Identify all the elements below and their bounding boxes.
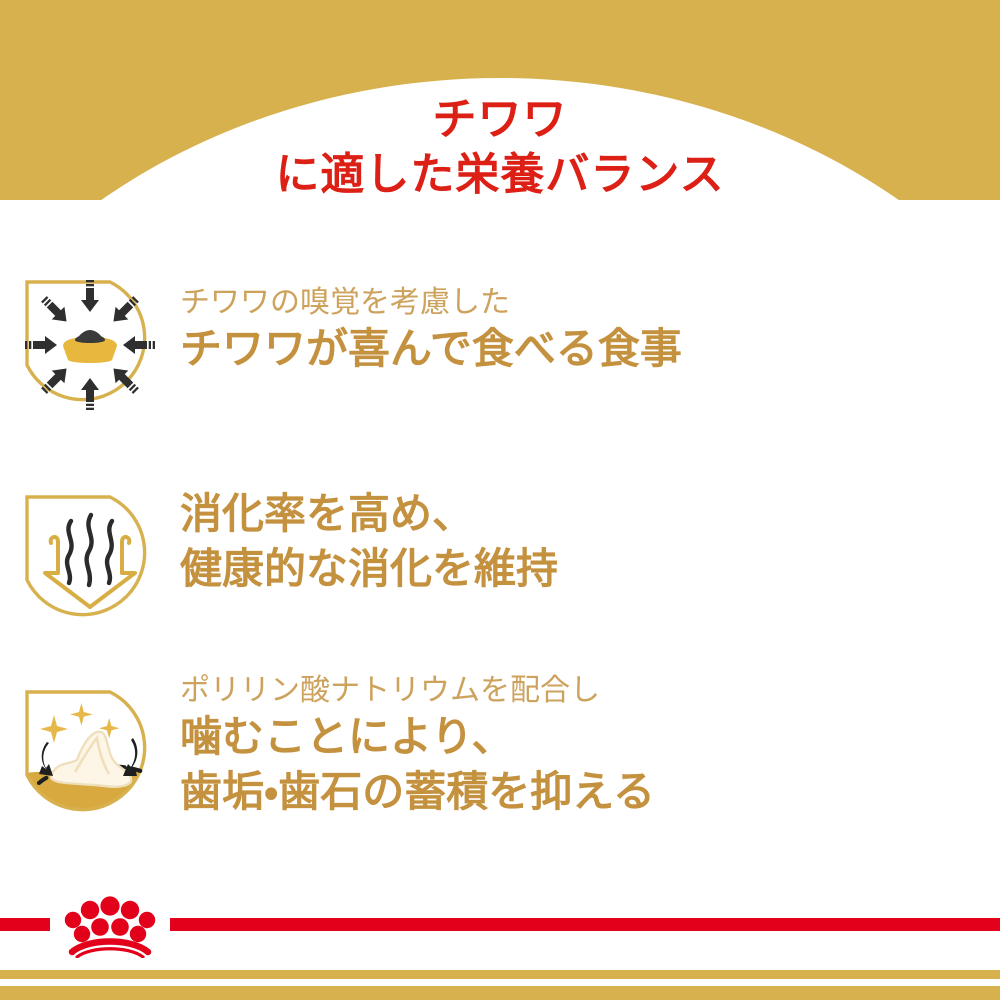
- gold-rule-thin: [0, 970, 1000, 979]
- digestion-steam-arrow-icon: [15, 485, 165, 640]
- gold-rule-thick: [0, 986, 1000, 1000]
- feature-1-main-1: チワワが喜んで食べる食事: [180, 322, 1000, 377]
- text-slot-1: チワワの嗅覚を考慮した チワワが喜んで食べる食事: [180, 262, 1000, 377]
- feature-item-dental: ポリリン酸ナトリウムを配合し 噛むことにより、 歯垢・歯石の蓄積を抑える: [0, 672, 1000, 835]
- text-slot-2: 消化率を高め、 健康的な消化を維持: [180, 477, 1000, 596]
- page-title: チワワ に適した栄養バランス: [0, 92, 1000, 203]
- title-line-2: に適した栄養バランス: [0, 147, 1000, 202]
- icon-slot-3: [0, 672, 180, 835]
- royal-canin-crown-logo: [50, 890, 170, 962]
- tooth-dental-care-icon: [15, 680, 165, 835]
- feature-2-main-1: 消化率を高め、: [180, 487, 1000, 542]
- food-bowl-aroma-icon: [15, 270, 165, 425]
- icon-slot-1: [0, 262, 180, 425]
- footer: [0, 890, 1000, 1000]
- promo-page: チワワ に適した栄養バランス: [0, 0, 1000, 1000]
- text-slot-3: ポリリン酸ナトリウムを配合し 噛むことにより、 歯垢・歯石の蓄積を抑える: [180, 672, 1000, 820]
- feature-3-sub: ポリリン酸ナトリウムを配合し: [180, 672, 1000, 710]
- feature-1-sub: チワワの嗅覚を考慮した: [180, 284, 1000, 322]
- feature-3-main-1: 噛むことにより、: [180, 710, 1000, 765]
- title-line-1: チワワ: [0, 92, 1000, 147]
- icon-slot-2: [0, 477, 180, 640]
- feature-item-digestion: 消化率を高め、 健康的な消化を維持: [0, 477, 1000, 640]
- feature-item-appetite: チワワの嗅覚を考慮した チワワが喜んで食べる食事: [0, 262, 1000, 425]
- feature-2-main-2: 健康的な消化を維持: [180, 542, 1000, 597]
- feature-3-main-2: 歯垢・歯石の蓄積を抑える: [180, 765, 1000, 820]
